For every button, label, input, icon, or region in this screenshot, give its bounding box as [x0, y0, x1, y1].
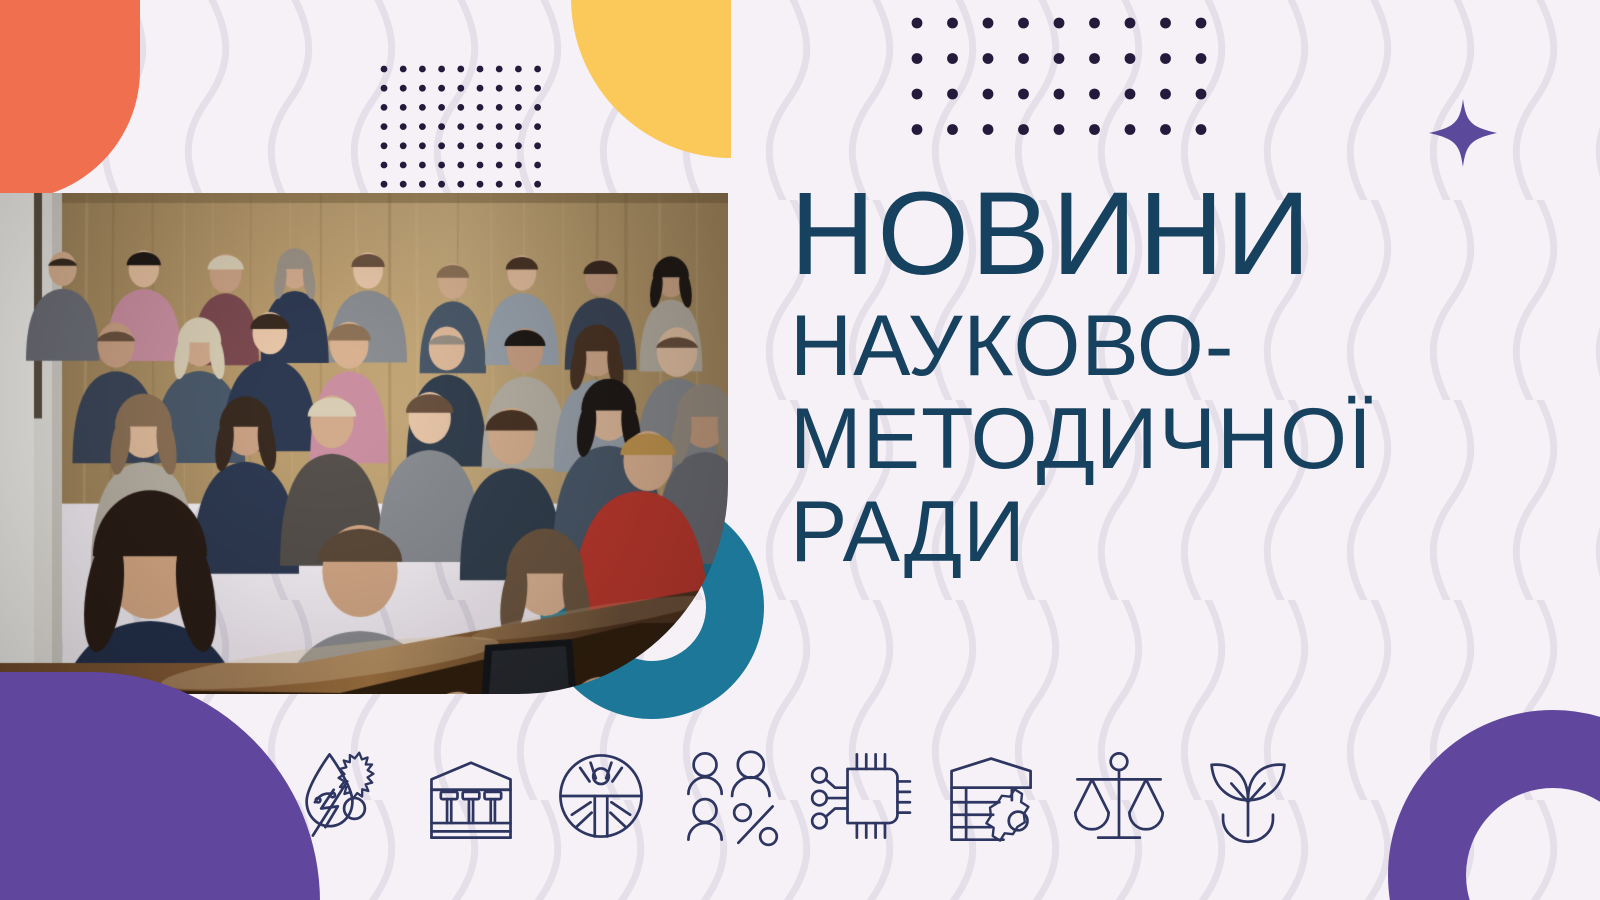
scales-of-justice-icon: [1067, 744, 1171, 848]
headline-block: НОВИНИ НАУКОВО- МЕТОДИЧНОЇ РАДИ: [790, 178, 1550, 579]
headline-line-1: НОВИНИ: [790, 178, 1550, 290]
headline-line-4: РАДИ: [790, 486, 1550, 579]
circle-person-icon: [549, 744, 653, 848]
meeting-photo: [0, 193, 728, 694]
purple-sparkle-icon: [1426, 96, 1500, 170]
meeting-photo-canvas: [0, 193, 728, 694]
headline-line-3: МЕТОДИЧНОЇ: [790, 393, 1550, 486]
plant-sprout-icon: [1196, 744, 1300, 848]
classical-building-icon: [419, 744, 523, 848]
poster-canvas: НОВИНИ НАУКОВО- МЕТОДИЧНОЇ РАДИ: [0, 0, 1600, 900]
headline-line-2: НАУКОВО-: [790, 300, 1550, 393]
people-percent-icon: [678, 744, 782, 848]
sector-icon-strip: [290, 736, 1300, 856]
microchip-icon: [808, 744, 912, 848]
water-drop-gear-energy-icon: [290, 744, 394, 848]
industry-gear-icon: [937, 744, 1041, 848]
